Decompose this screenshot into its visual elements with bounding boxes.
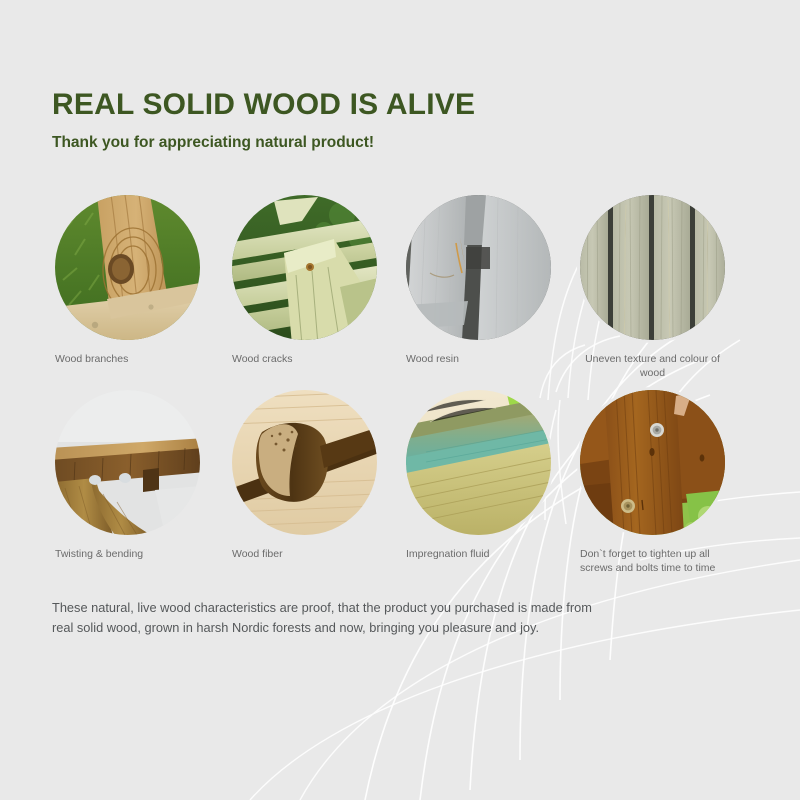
- feature-item-tighten-screws: Don`t forget to tighten up all screws an…: [580, 390, 754, 575]
- footer-paragraph: These natural, live wood characteristics…: [52, 598, 612, 638]
- caption-wood-branches: Wood branches: [55, 352, 205, 366]
- caption-tighten-screws: Don`t forget to tighten up all screws an…: [580, 547, 730, 575]
- feature-item-wood-cracks: Wood cracks: [232, 195, 406, 366]
- caption-twisting-bending: Twisting & bending: [55, 547, 205, 561]
- feature-item-wood-resin: Wood resin: [406, 195, 580, 366]
- feature-grid: Wood branches: [0, 0, 800, 800]
- caption-wood-cracks: Wood cracks: [232, 352, 382, 366]
- wood-cracks-image: [232, 195, 377, 340]
- feature-item-impregnation-fluid: Impregnation fluid: [406, 390, 580, 561]
- tighten-screws-image: [580, 390, 725, 535]
- wood-fiber-image: [232, 390, 377, 535]
- feature-item-wood-fiber: Wood fiber: [232, 390, 406, 561]
- twisting-bending-image: [55, 390, 200, 535]
- wood-branches-image: [55, 195, 200, 340]
- caption-impregnation-fluid: Impregnation fluid: [406, 547, 556, 561]
- impregnation-fluid-image: [406, 390, 551, 535]
- feature-item-twisting-bending: Twisting & bending: [55, 390, 229, 561]
- screw-bottom: [621, 499, 635, 513]
- wood-resin-image: [406, 195, 551, 340]
- uneven-texture-image: [580, 195, 725, 340]
- screw-top: [650, 423, 664, 437]
- infographic-page: REAL SOLID WOOD IS ALIVE Thank you for a…: [0, 0, 800, 800]
- caption-wood-fiber: Wood fiber: [232, 547, 382, 561]
- feature-item-wood-branches: Wood branches: [55, 195, 229, 366]
- caption-uneven-texture: Uneven texture and colour of wood: [580, 352, 725, 380]
- feature-item-uneven-texture: Uneven texture and colour of wood: [580, 195, 754, 380]
- caption-wood-resin: Wood resin: [406, 352, 556, 366]
